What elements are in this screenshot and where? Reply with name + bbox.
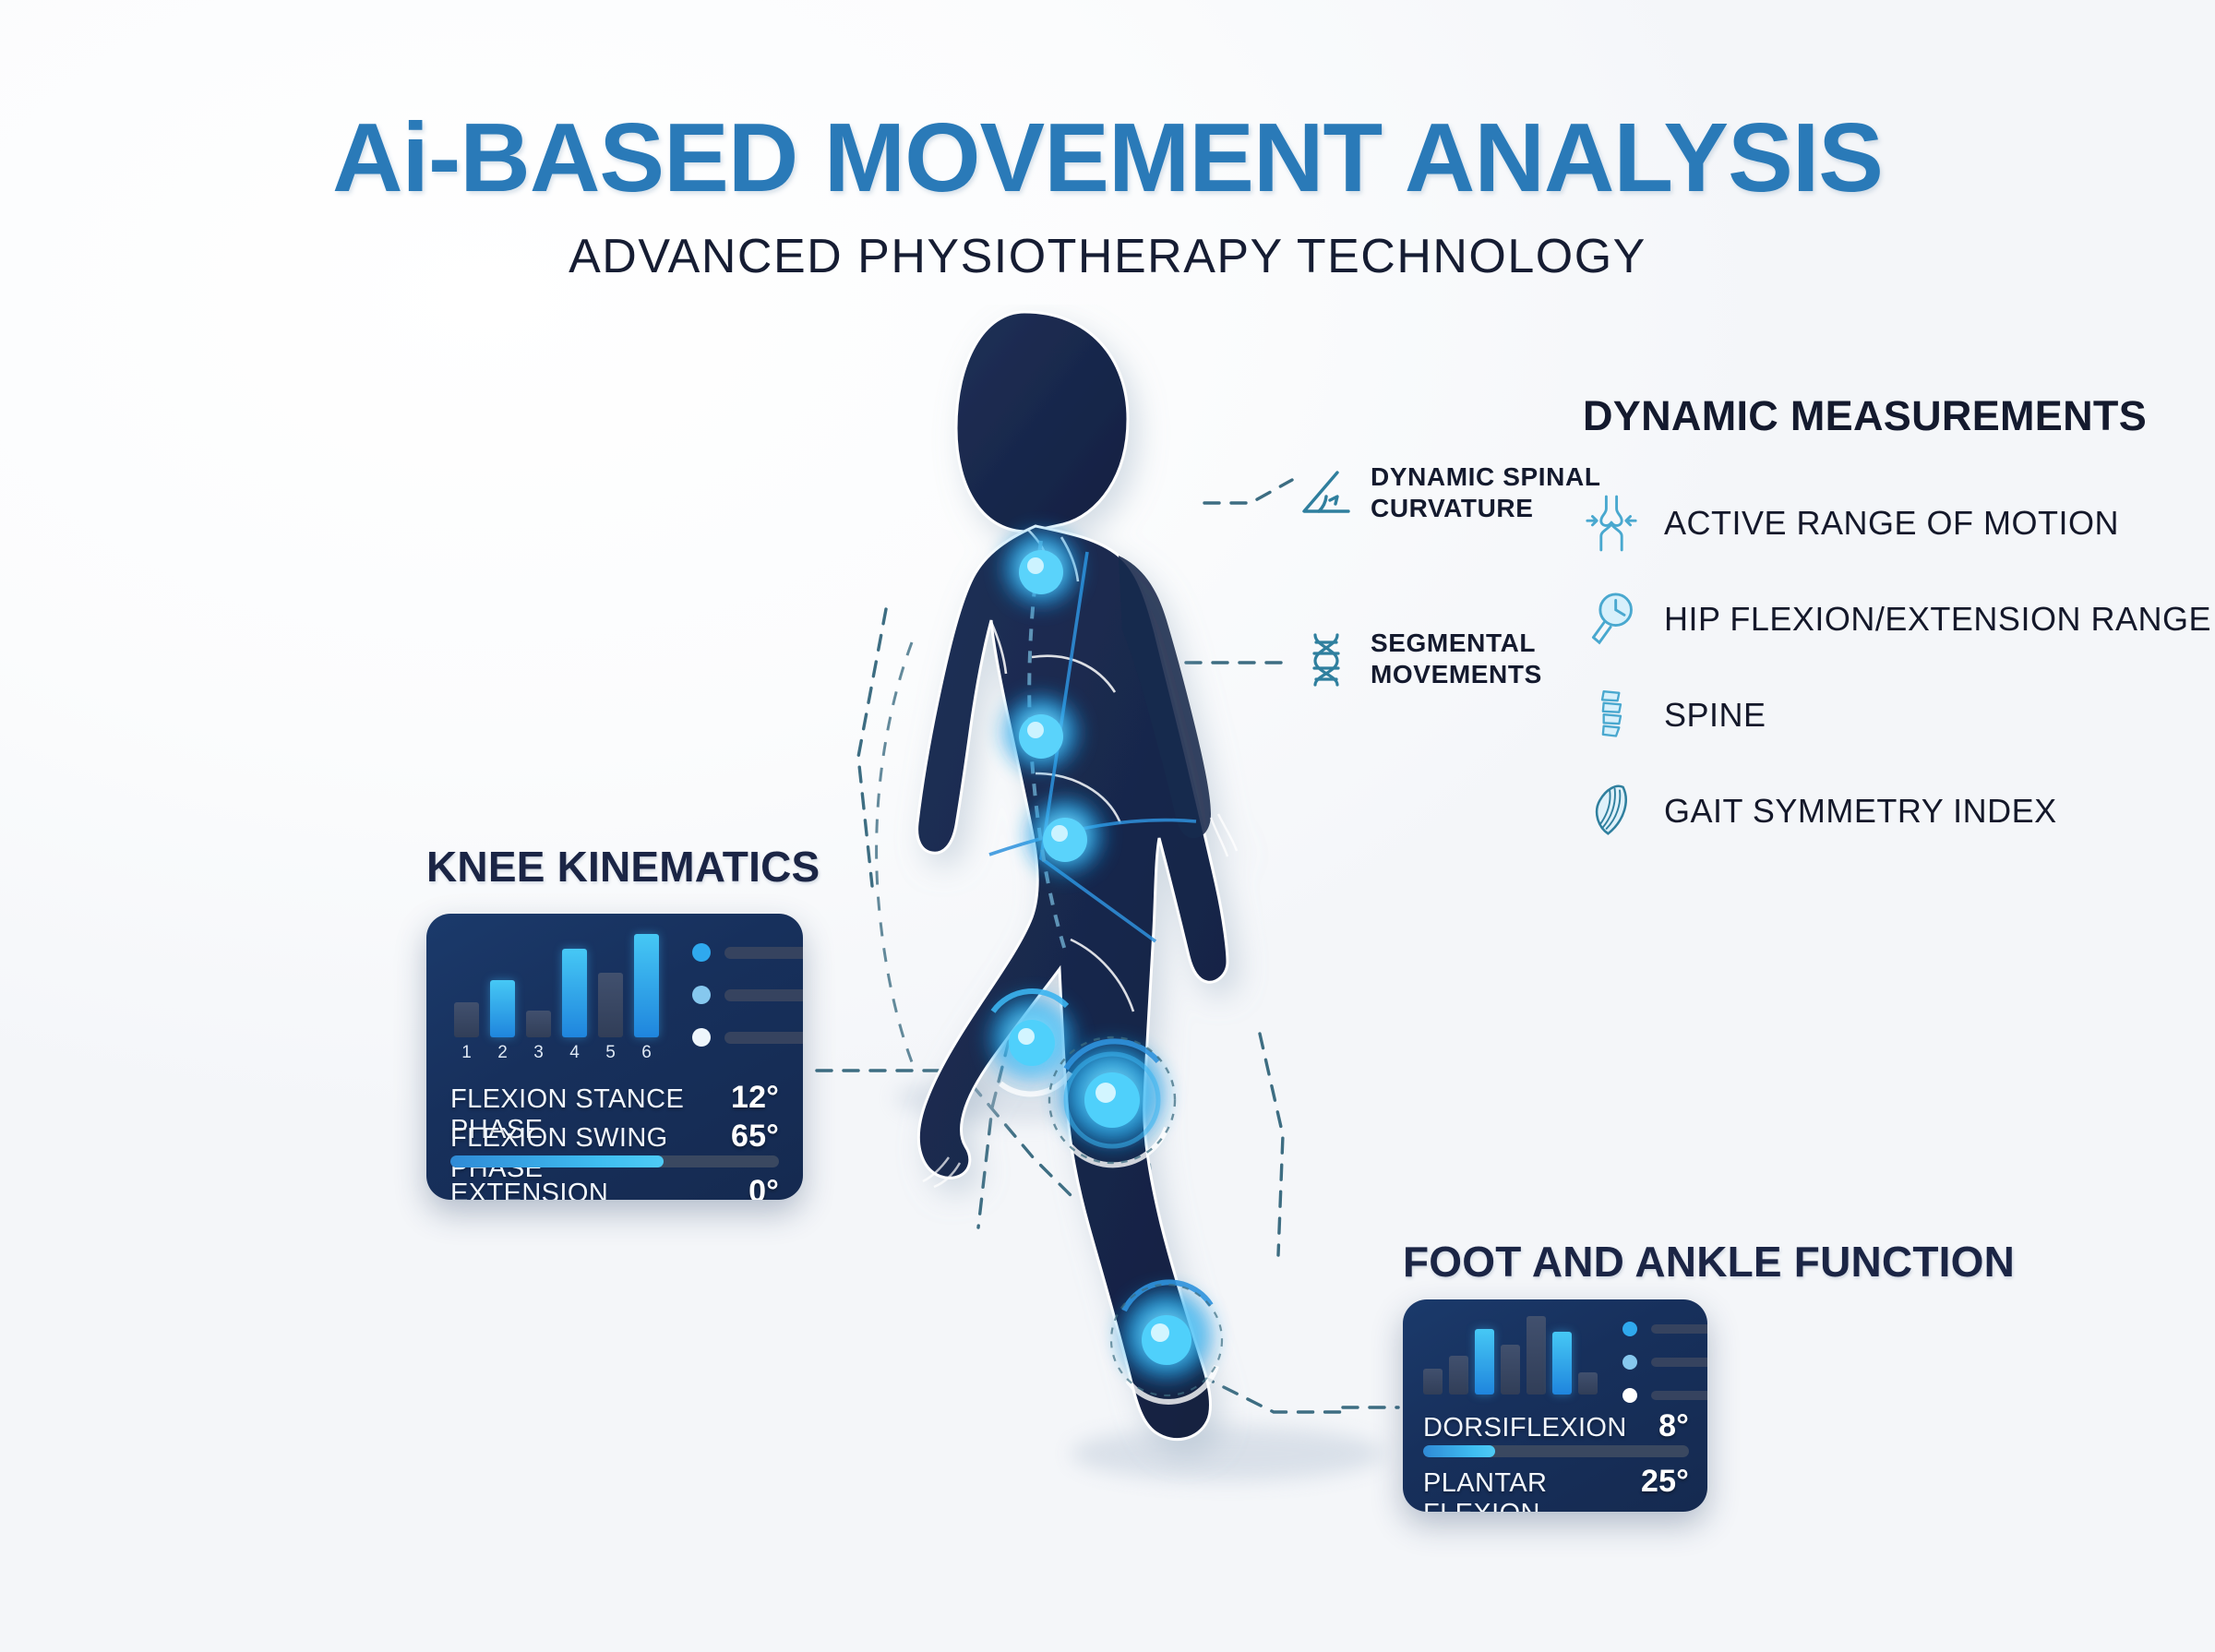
page-subtitle: ADVANCED PHYSIOTHERAPY TECHNOLOGY — [0, 229, 2215, 284]
magnifier-clock-icon — [1583, 587, 1640, 652]
knee-bar-chart — [452, 934, 655, 1037]
legend-bar — [724, 989, 803, 1001]
foot-bar-chart — [1423, 1316, 1598, 1395]
foot-progress-bar — [1423, 1445, 1689, 1457]
legend-dot-2 — [692, 986, 711, 1004]
knee-progress-bar — [450, 1155, 779, 1167]
measurement-label: HIP FLEXION/EXTENSION RANGE — [1664, 600, 2211, 639]
bar-4 — [562, 949, 587, 1037]
legend-item — [692, 1028, 803, 1047]
measurement-item-gait-symmetry-index[interactable]: GAIT SYMMETRY INDEX — [1583, 763, 2173, 859]
metric-extension: EXTENSION 0° — [450, 1174, 779, 1200]
dynamic-measurements-panel: DYNAMIC MEASUREMENTS ACTIVE RANGE OF MOT… — [1583, 392, 2173, 859]
legend-item — [1622, 1355, 1707, 1370]
bar-4 — [1501, 1345, 1520, 1395]
callout-segmental-movements: SEGMENTAL MOVEMENTS — [1297, 628, 1542, 690]
legend-bar — [724, 1032, 803, 1044]
legend-dot-3 — [1622, 1388, 1637, 1403]
knee-kinematics-heading: KNEE KINEMATICS — [426, 842, 820, 892]
bar-2 — [1449, 1356, 1468, 1395]
legend-item — [692, 986, 803, 1004]
legend-bar — [1651, 1391, 1707, 1400]
legend-dot-1 — [1622, 1322, 1637, 1336]
metric-dorsiflexion: DORSIFLEXION 8° — [1423, 1408, 1689, 1444]
muscle-icon — [1583, 779, 1640, 844]
infographic-canvas: Ai-BASED MOVEMENT ANALYSIS ADVANCED PHYS… — [0, 0, 2215, 1652]
bar-6 — [1552, 1332, 1572, 1395]
dna-helix-icon — [1297, 629, 1356, 688]
bar-1 — [454, 1002, 479, 1037]
angle-measure-icon — [1297, 463, 1356, 522]
bar-2 — [490, 980, 515, 1037]
measurements-heading: DYNAMIC MEASUREMENTS — [1583, 392, 2173, 440]
knee-kinematics-panel: 1 2 3 4 5 6 FLEXION STANCE PHASE 12° FLE… — [426, 914, 803, 1200]
spine-vertebrae-icon — [1583, 683, 1640, 748]
legend-dot-1 — [692, 943, 711, 962]
metric-plantar-flexion: PLANTAR FLEXION 25° — [1423, 1464, 1689, 1512]
foot-ankle-function-panel: DORSIFLEXION 8° PLANTAR FLEXION 25° — [1403, 1299, 1707, 1512]
knee-joint-icon — [1583, 491, 1640, 556]
measurement-item-hip-flexion-extension-range[interactable]: HIP FLEXION/EXTENSION RANGE — [1583, 571, 2173, 667]
legend-bar — [1651, 1358, 1707, 1367]
legend-item — [1622, 1388, 1707, 1403]
bar-5 — [598, 973, 623, 1037]
measurement-label: ACTIVE RANGE OF MOTION — [1664, 504, 2119, 543]
bar-7 — [1578, 1372, 1598, 1395]
callout-label: DYNAMIC SPINAL CURVATURE — [1371, 461, 1601, 524]
callout-label: SEGMENTAL MOVEMENTS — [1371, 628, 1542, 690]
legend-dot-2 — [1622, 1355, 1637, 1370]
legend-dot-3 — [692, 1028, 711, 1047]
callout-dynamic-spinal-curvature: DYNAMIC SPINAL CURVATURE — [1297, 461, 1601, 524]
bar-1 — [1423, 1369, 1443, 1395]
measurement-label: GAIT SYMMETRY INDEX — [1664, 792, 2057, 831]
header: Ai-BASED MOVEMENT ANALYSIS ADVANCED PHYS… — [0, 109, 2215, 284]
measurement-item-spine[interactable]: SPINE — [1583, 667, 2173, 763]
measurement-label: SPINE — [1664, 696, 1766, 735]
legend-bar — [1651, 1324, 1707, 1334]
bar-6 — [634, 934, 659, 1037]
legend-item — [692, 943, 803, 962]
bar-5 — [1527, 1316, 1546, 1395]
legend-bar — [724, 947, 803, 959]
foot-ankle-heading: FOOT AND ANKLE FUNCTION — [1403, 1237, 2015, 1287]
bar-3 — [1475, 1329, 1494, 1395]
knee-chart-legend — [692, 943, 803, 1071]
measurement-item-active-range-of-motion[interactable]: ACTIVE RANGE OF MOTION — [1583, 475, 2173, 571]
page-title: Ai-BASED MOVEMENT ANALYSIS — [0, 109, 2215, 207]
bar-3 — [526, 1011, 551, 1037]
legend-item — [1622, 1322, 1707, 1336]
